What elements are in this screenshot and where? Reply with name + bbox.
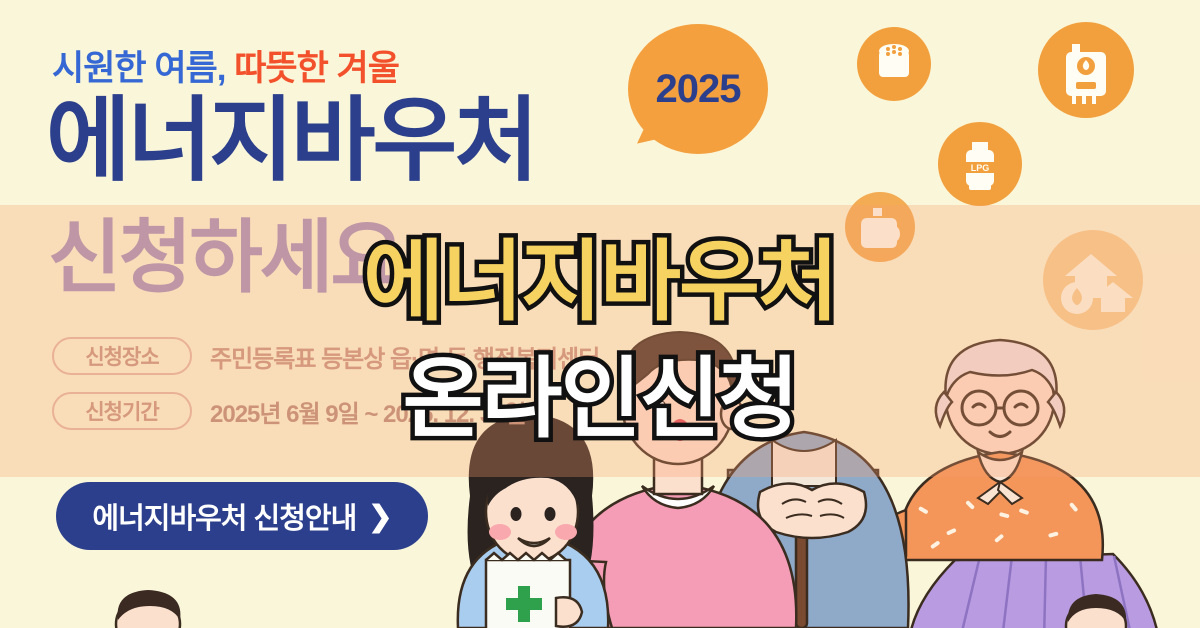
page-title: 에너지바우처 — [46, 95, 536, 187]
application-guide-label: 에너지바우처 신청안내 — [92, 495, 356, 537]
overlay-title-line1: 에너지바우처 — [0, 238, 1200, 326]
svg-text:LPG: LPG — [971, 163, 990, 173]
kicker-cool-text: 시원한 여름, — [52, 49, 225, 88]
year-badge: 2025 — [628, 24, 768, 154]
boiler-icon — [1038, 22, 1134, 118]
kicker-headline: 시원한 여름, 따뜻한 겨울 — [52, 40, 399, 91]
chevron-right-icon: ❯ — [368, 499, 391, 534]
kicker-warm-text: 따뜻한 겨울 — [234, 49, 399, 88]
overlay-title-line2: 온라인신청 — [0, 355, 1200, 443]
year-badge-label: 2025 — [656, 67, 741, 112]
energy-voucher-banner: 시원한 여름, 따뜻한 겨울 에너지바우처 2025 — [0, 0, 1200, 628]
application-guide-button[interactable]: 에너지바우처 신청안내 ❯ — [56, 482, 428, 550]
briquette-icon — [857, 27, 931, 101]
lpg-cylinder-icon: LPG — [938, 122, 1022, 206]
